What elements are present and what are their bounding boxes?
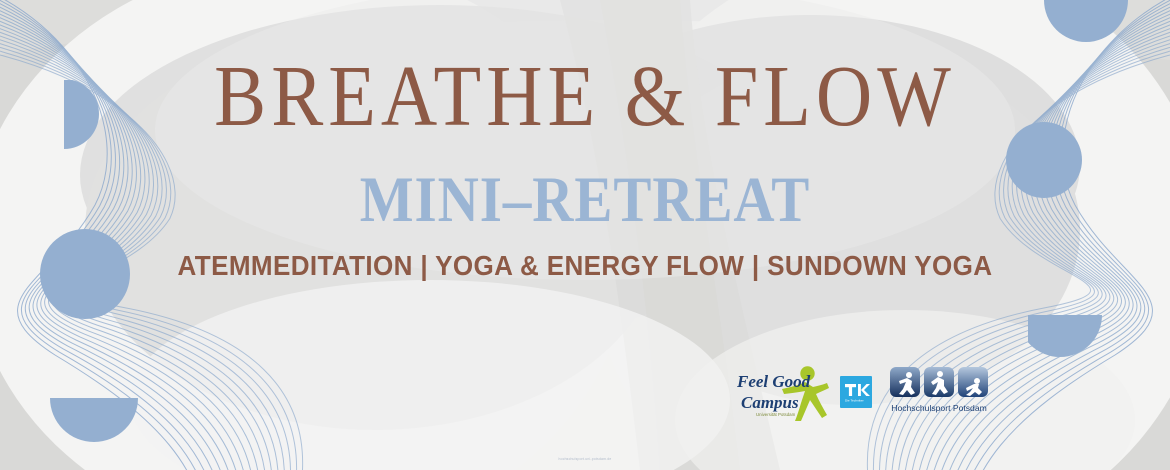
half-circle-bottom-right [1018,273,1102,357]
three-sport-tiles-icon: Hochschulsport Potsdam [882,363,997,421]
micro-credit-text: hochschulsport.uni-potsdam.de [0,457,1170,461]
fgc-line2: Campus [741,393,799,412]
tk-square-icon: Die Techniker [840,376,872,408]
fgc-line1: Feel Good [736,372,811,391]
page-title: BREATHE & FLOW [0,52,1170,139]
logo-strip: Feel Good Campus Universität Potsdam Die… [735,358,1025,426]
tk-subtitle: Die Techniker [845,399,864,403]
hsp-caption: Hochschulsport Potsdam [891,403,987,413]
banner-root: BREATHE & FLOW MINI–RETREAT ATEMMEDITATI… [0,0,1170,470]
logo-feel-good-campus: Feel Good Campus Universität Potsdam [735,361,830,423]
logo-hochschulsport-potsdam: Hochschulsport Potsdam [882,363,997,421]
page-subtitle: MINI–RETREAT [47,168,1123,232]
half-circle-top-right [1044,0,1128,42]
logo-tk: Die Techniker [840,376,872,408]
half-circle-bottom-left [50,354,138,442]
fgc-subtitle: Universität Potsdam [756,412,796,417]
feel-good-campus-logo: Feel Good Campus Universität Potsdam [735,361,830,423]
page-tagline: ATEMMEDITATION | YOGA & ENERGY FLOW | SU… [41,252,1129,280]
